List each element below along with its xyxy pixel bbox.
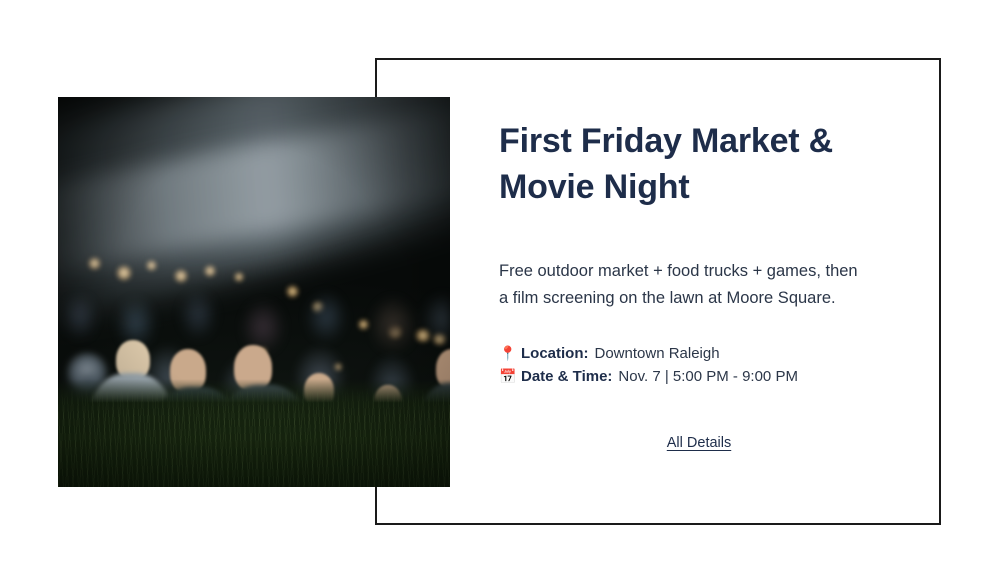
event-description: Free outdoor market + food trucks + game… (499, 258, 871, 311)
location-value: Downtown Raleigh (595, 342, 720, 365)
location-pin-icon: 📍 (499, 346, 515, 360)
grass-texture (58, 387, 450, 487)
meta-row-datetime: 📅 Date & Time: Nov. 7 | 5:00 PM - 9:00 P… (499, 365, 899, 388)
details-link-container: All Details (499, 434, 899, 452)
bokeh-light (146, 260, 157, 271)
datetime-label: Date & Time: (521, 365, 612, 388)
card-content: First Friday Market & Movie Night Free o… (499, 118, 899, 452)
meta-row-location: 📍 Location: Downtown Raleigh (499, 342, 899, 365)
calendar-icon: 📅 (499, 369, 515, 383)
location-label: Location: (521, 342, 589, 365)
event-card: First Friday Market & Movie Night Free o… (0, 0, 1000, 585)
all-details-link[interactable]: All Details (667, 435, 731, 451)
datetime-value: Nov. 7 | 5:00 PM - 9:00 PM (618, 365, 798, 388)
event-photo (58, 97, 450, 487)
page-title: First Friday Market & Movie Night (499, 118, 899, 210)
event-meta-list: 📍 Location: Downtown Raleigh 📅 Date & Ti… (499, 342, 899, 389)
